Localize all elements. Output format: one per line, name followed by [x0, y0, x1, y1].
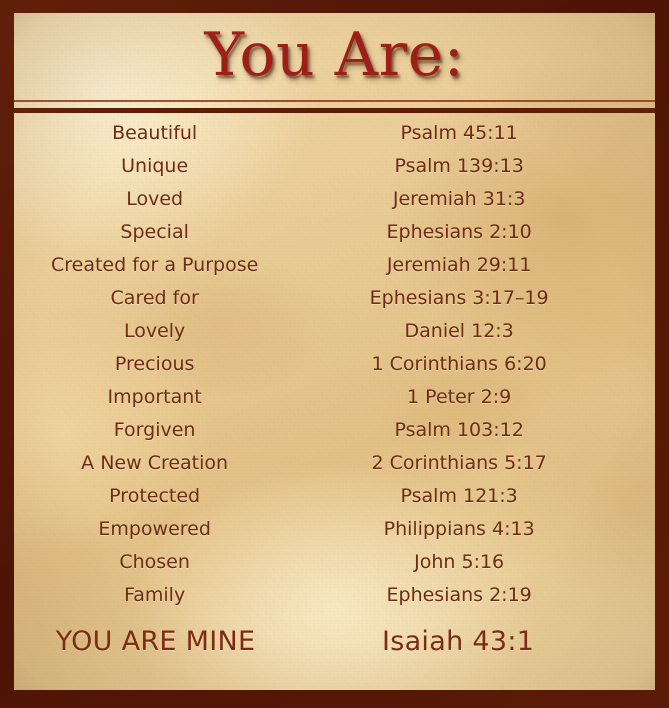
- attribute-label: Cared for: [14, 282, 299, 315]
- scripture-reference: Psalm 139:13: [299, 150, 655, 183]
- scripture-reference: Psalm 121:3: [299, 480, 655, 513]
- attribute-row: Important1 Peter 2:9: [14, 381, 655, 414]
- scripture-reference: Daniel 12:3: [299, 315, 655, 348]
- finale-attribute: YOU ARE MINE: [14, 620, 297, 664]
- scripture-reference: Ephesians 2:10: [299, 216, 655, 249]
- attribute-label: Family: [14, 579, 299, 612]
- attribute-label: Unique: [14, 150, 299, 183]
- attribute-label: Empowered: [14, 513, 299, 546]
- scripture-reference: Jeremiah 29:11: [299, 249, 655, 282]
- attribute-row: UniquePsalm 139:13: [14, 150, 655, 183]
- attribute-row: BeautifulPsalm 45:11: [14, 117, 655, 150]
- divider-thin: [14, 100, 655, 102]
- attributes-list: BeautifulPsalm 45:11UniquePsalm 139:13Lo…: [14, 117, 655, 664]
- scripture-reference: 1 Peter 2:9: [299, 381, 655, 414]
- attribute-label: A New Creation: [14, 447, 299, 480]
- attribute-row: Cared forEphesians 3:17–19: [14, 282, 655, 315]
- attribute-label: Beautiful: [14, 117, 299, 150]
- finale-row: YOU ARE MINEIsaiah 43:1: [14, 620, 655, 664]
- attribute-label: Protected: [14, 480, 299, 513]
- attribute-label: Special: [14, 216, 299, 249]
- attribute-row: ChosenJohn 5:16: [14, 546, 655, 579]
- scripture-reference: John 5:16: [299, 546, 655, 579]
- title-band: You Are:: [14, 13, 655, 100]
- scripture-reference: Jeremiah 31:3: [299, 183, 655, 216]
- attribute-row: Precious1 Corinthians 6:20: [14, 348, 655, 381]
- scripture-reference: Ephesians 3:17–19: [299, 282, 655, 315]
- attribute-row: EmpoweredPhilippians 4:13: [14, 513, 655, 546]
- poster: You Are: BeautifulPsalm 45:11UniquePsalm…: [0, 0, 669, 708]
- scripture-reference: Philippians 4:13: [299, 513, 655, 546]
- attribute-label: Created for a Purpose: [14, 249, 299, 282]
- attribute-label: Precious: [14, 348, 299, 381]
- attribute-label: Chosen: [14, 546, 299, 579]
- finale-reference: Isaiah 43:1: [297, 620, 655, 664]
- scripture-reference: Ephesians 2:19: [299, 579, 655, 612]
- attribute-row: LovedJeremiah 31:3: [14, 183, 655, 216]
- attribute-row: SpecialEphesians 2:10: [14, 216, 655, 249]
- parchment-background: You Are: BeautifulPsalm 45:11UniquePsalm…: [14, 13, 655, 690]
- attribute-label: Loved: [14, 183, 299, 216]
- scripture-reference: Psalm 45:11: [299, 117, 655, 150]
- attribute-row: Created for a PurposeJeremiah 29:11: [14, 249, 655, 282]
- attribute-label: Important: [14, 381, 299, 414]
- divider-thick: [14, 108, 655, 113]
- page-title: You Are:: [14, 21, 655, 89]
- attribute-row: A New Creation2 Corinthians 5:17: [14, 447, 655, 480]
- scripture-reference: Psalm 103:12: [299, 414, 655, 447]
- attribute-label: Forgiven: [14, 414, 299, 447]
- attribute-label: Lovely: [14, 315, 299, 348]
- scripture-reference: 2 Corinthians 5:17: [299, 447, 655, 480]
- scripture-reference: 1 Corinthians 6:20: [299, 348, 655, 381]
- attribute-row: ForgivenPsalm 103:12: [14, 414, 655, 447]
- attribute-row: ProtectedPsalm 121:3: [14, 480, 655, 513]
- attribute-row: LovelyDaniel 12:3: [14, 315, 655, 348]
- attribute-row: FamilyEphesians 2:19: [14, 579, 655, 612]
